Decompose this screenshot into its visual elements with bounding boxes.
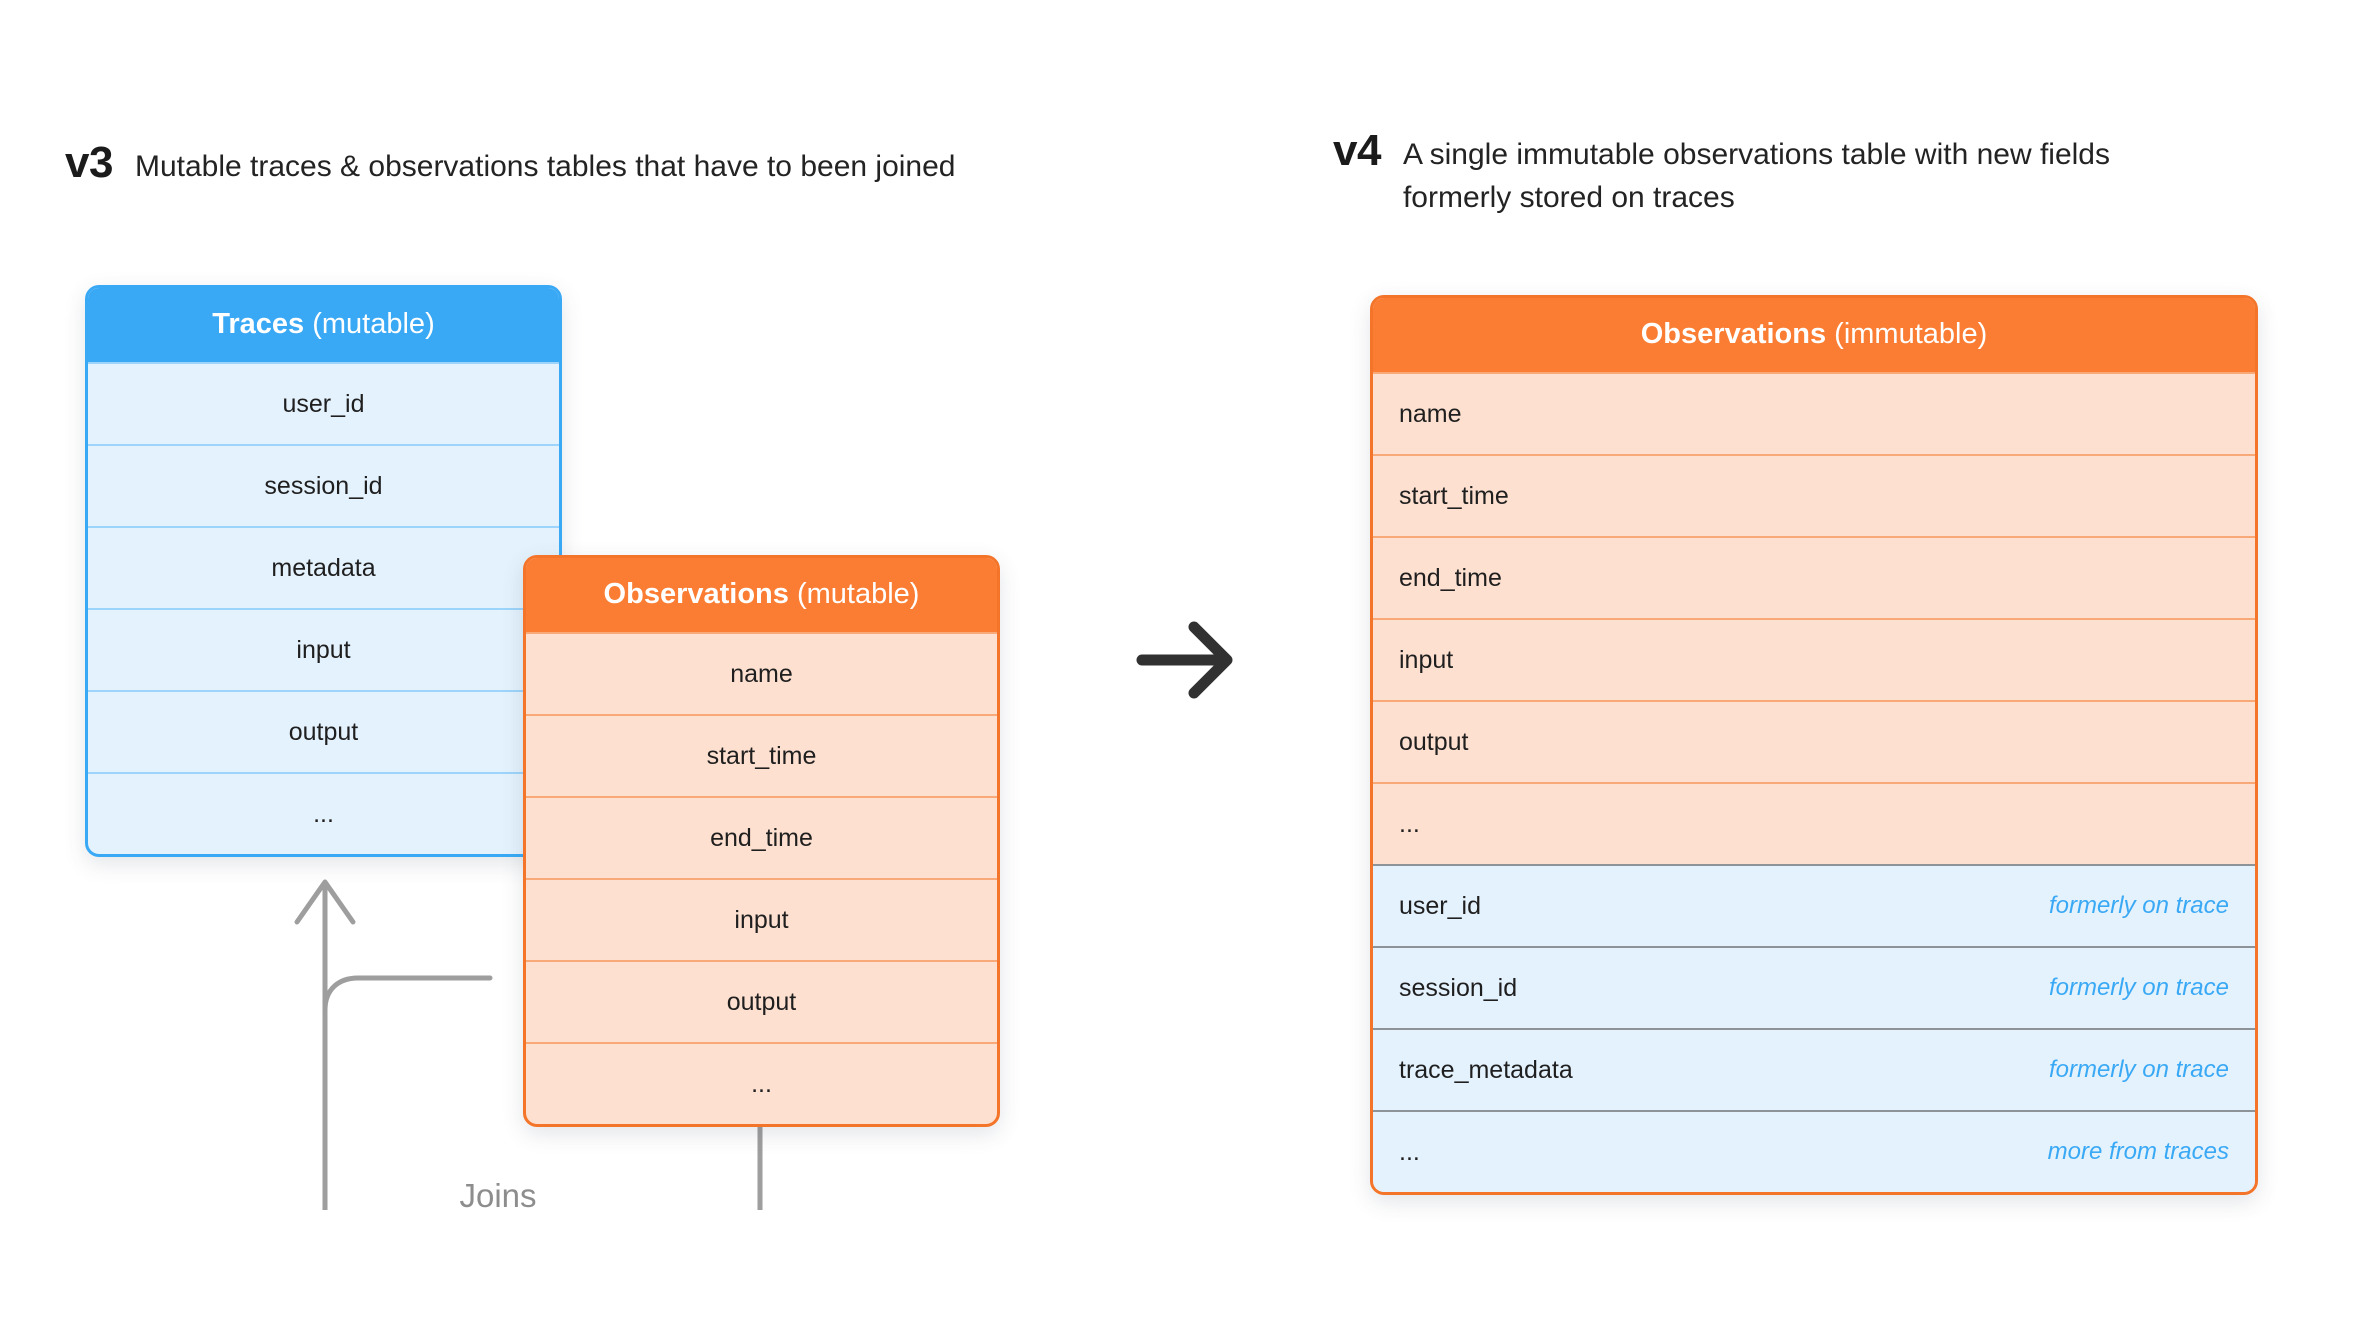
- join-path-left: [325, 978, 490, 1210]
- table-row: session_id: [88, 444, 559, 526]
- heading-description-v4: A single immutable observations table wi…: [1403, 128, 2193, 219]
- field-name: ...: [1399, 1138, 1420, 1167]
- observations-table-v3: Observations (mutable) name start_time e…: [523, 555, 1000, 1127]
- field-name: start_time: [707, 742, 817, 771]
- heading-v3: v3 Mutable traces & observations tables …: [65, 140, 1045, 189]
- table-row: metadata: [88, 526, 559, 608]
- table-row: ...: [88, 772, 559, 854]
- table-row: trace_metadata formerly on trace: [1373, 1028, 2255, 1110]
- table-row: session_id formerly on trace: [1373, 946, 2255, 1028]
- join-arrowhead-traces-icon: [297, 882, 353, 1022]
- table-row: input: [88, 608, 559, 690]
- field-note: more from traces: [2048, 1138, 2229, 1166]
- observations-table-mutability-v4: (immutable): [1834, 318, 1987, 350]
- field-name: user_id: [1399, 892, 1481, 921]
- field-note: formerly on trace: [2049, 974, 2229, 1002]
- field-name: trace_metadata: [1399, 1056, 1573, 1085]
- table-row: input: [1373, 618, 2255, 700]
- join-label: Joins: [441, 1177, 554, 1215]
- observations-table-header-v3: Observations (mutable): [526, 558, 997, 632]
- field-name: ...: [1399, 810, 1420, 839]
- observations-table-title-v4: Observations: [1641, 318, 1826, 350]
- field-note: formerly on trace: [2049, 1056, 2229, 1084]
- table-row: output: [1373, 700, 2255, 782]
- observations-table-mutability-v3: (mutable): [797, 578, 920, 610]
- field-note: formerly on trace: [2049, 892, 2229, 920]
- table-row: name: [1373, 372, 2255, 454]
- table-row: output: [88, 690, 559, 772]
- field-name: name: [1399, 400, 1462, 429]
- heading-description-v3: Mutable traces & observations tables tha…: [135, 140, 956, 189]
- table-row: user_id: [88, 362, 559, 444]
- arrow-right-icon: [1128, 600, 1248, 720]
- diagram-canvas: v3 Mutable traces & observations tables …: [0, 0, 2357, 1326]
- table-row: input: [526, 878, 997, 960]
- observations-table-header-v4: Observations (immutable): [1373, 298, 2255, 372]
- table-row: start_time: [1373, 454, 2255, 536]
- traces-table-mutability: (mutable): [312, 308, 435, 340]
- field-name: ...: [751, 1070, 772, 1099]
- field-name: user_id: [283, 390, 365, 419]
- version-badge-v3: v3: [65, 140, 113, 186]
- table-row: ...: [1373, 782, 2255, 864]
- table-row: start_time: [526, 714, 997, 796]
- field-name: input: [1399, 646, 1453, 675]
- traces-table: Traces (mutable) user_id session_id meta…: [85, 285, 562, 857]
- field-name: session_id: [1399, 974, 1517, 1003]
- field-name: input: [296, 636, 350, 665]
- version-badge-v4: v4: [1333, 128, 1381, 174]
- field-name: end_time: [710, 824, 813, 853]
- field-name: name: [730, 660, 793, 689]
- field-name: session_id: [264, 472, 382, 501]
- traces-table-title: Traces: [212, 308, 304, 340]
- field-name: ...: [313, 800, 334, 829]
- table-row: user_id formerly on trace: [1373, 864, 2255, 946]
- table-row: end_time: [526, 796, 997, 878]
- table-row: ... more from traces: [1373, 1110, 2255, 1192]
- field-name: output: [727, 988, 797, 1017]
- table-row: name: [526, 632, 997, 714]
- field-name: end_time: [1399, 564, 1502, 593]
- table-row: end_time: [1373, 536, 2255, 618]
- field-name: start_time: [1399, 482, 1509, 511]
- heading-v4: v4 A single immutable observations table…: [1333, 128, 2193, 219]
- field-name: output: [1399, 728, 1469, 757]
- table-row: output: [526, 960, 997, 1042]
- table-row: ...: [526, 1042, 997, 1124]
- observations-table-title-v3: Observations: [604, 578, 789, 610]
- field-name: output: [289, 718, 359, 747]
- observations-table-v4: Observations (immutable) name start_time…: [1370, 295, 2258, 1195]
- field-name: metadata: [271, 554, 375, 583]
- traces-table-header: Traces (mutable): [88, 288, 559, 362]
- field-name: input: [734, 906, 788, 935]
